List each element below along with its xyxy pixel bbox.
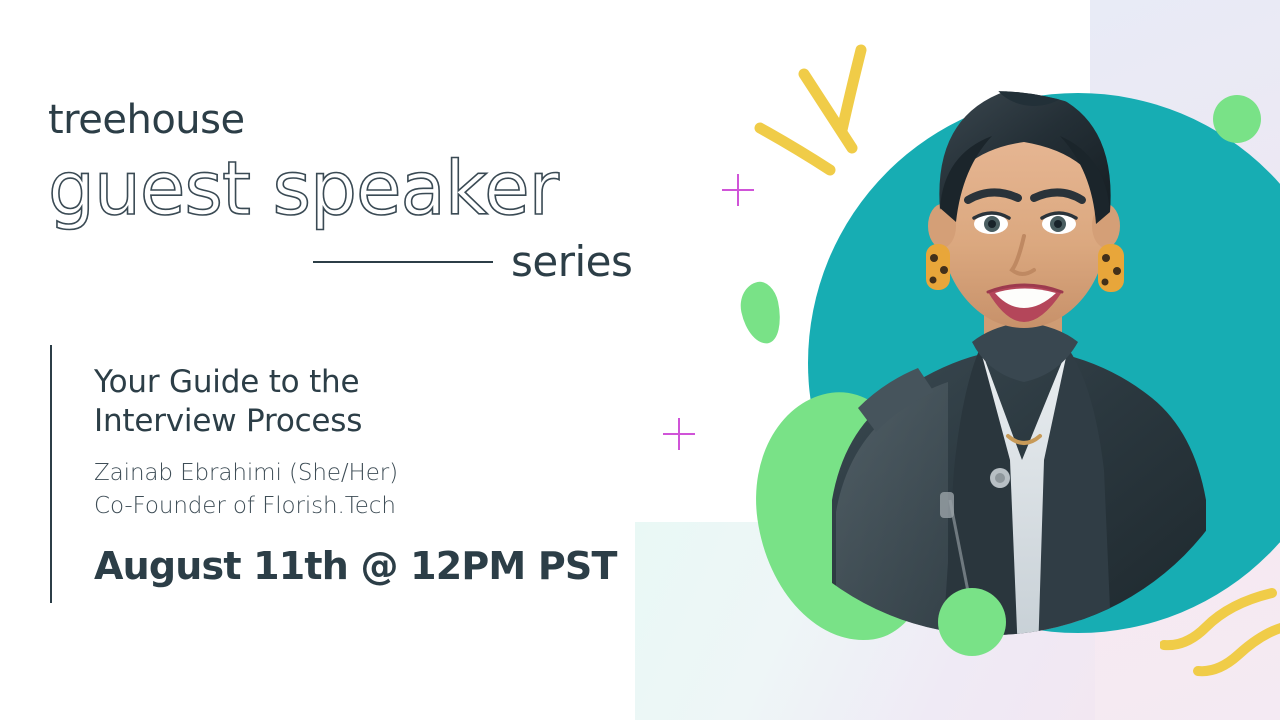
series-label: series bbox=[511, 237, 632, 286]
green-circle-bottom bbox=[938, 588, 1006, 656]
yellow-wavy-lines-icon bbox=[1160, 575, 1280, 695]
speaker-role: Co-Founder of Florish.Tech bbox=[94, 490, 617, 523]
speaker-name: Zainab Ebrahimi (She/Her) bbox=[94, 457, 617, 490]
series-divider bbox=[313, 261, 493, 263]
talk-title-line-2: Interview Process bbox=[94, 403, 362, 439]
magenta-plus-icon-bottom bbox=[663, 418, 695, 450]
talk-title-line-1: Your Guide to the bbox=[94, 364, 359, 400]
series-row: series bbox=[48, 237, 648, 286]
magenta-plus-icon-top bbox=[722, 174, 754, 206]
guest-speaker-headline: guest speaker bbox=[48, 152, 648, 227]
slide-canvas: treehouse guest speaker series Your Guid… bbox=[0, 0, 1280, 720]
treehouse-wordmark: treehouse bbox=[48, 100, 648, 140]
brand-title-block: treehouse guest speaker series bbox=[48, 100, 648, 286]
green-blob-small bbox=[736, 279, 786, 348]
talk-title: Your Guide to the Interview Process bbox=[94, 363, 617, 441]
yellow-sparkle-strokes-icon bbox=[748, 38, 908, 198]
event-date-time: August 11th @ 12PM PST bbox=[94, 544, 617, 588]
event-info-block: Your Guide to the Interview Process Zain… bbox=[50, 345, 617, 603]
